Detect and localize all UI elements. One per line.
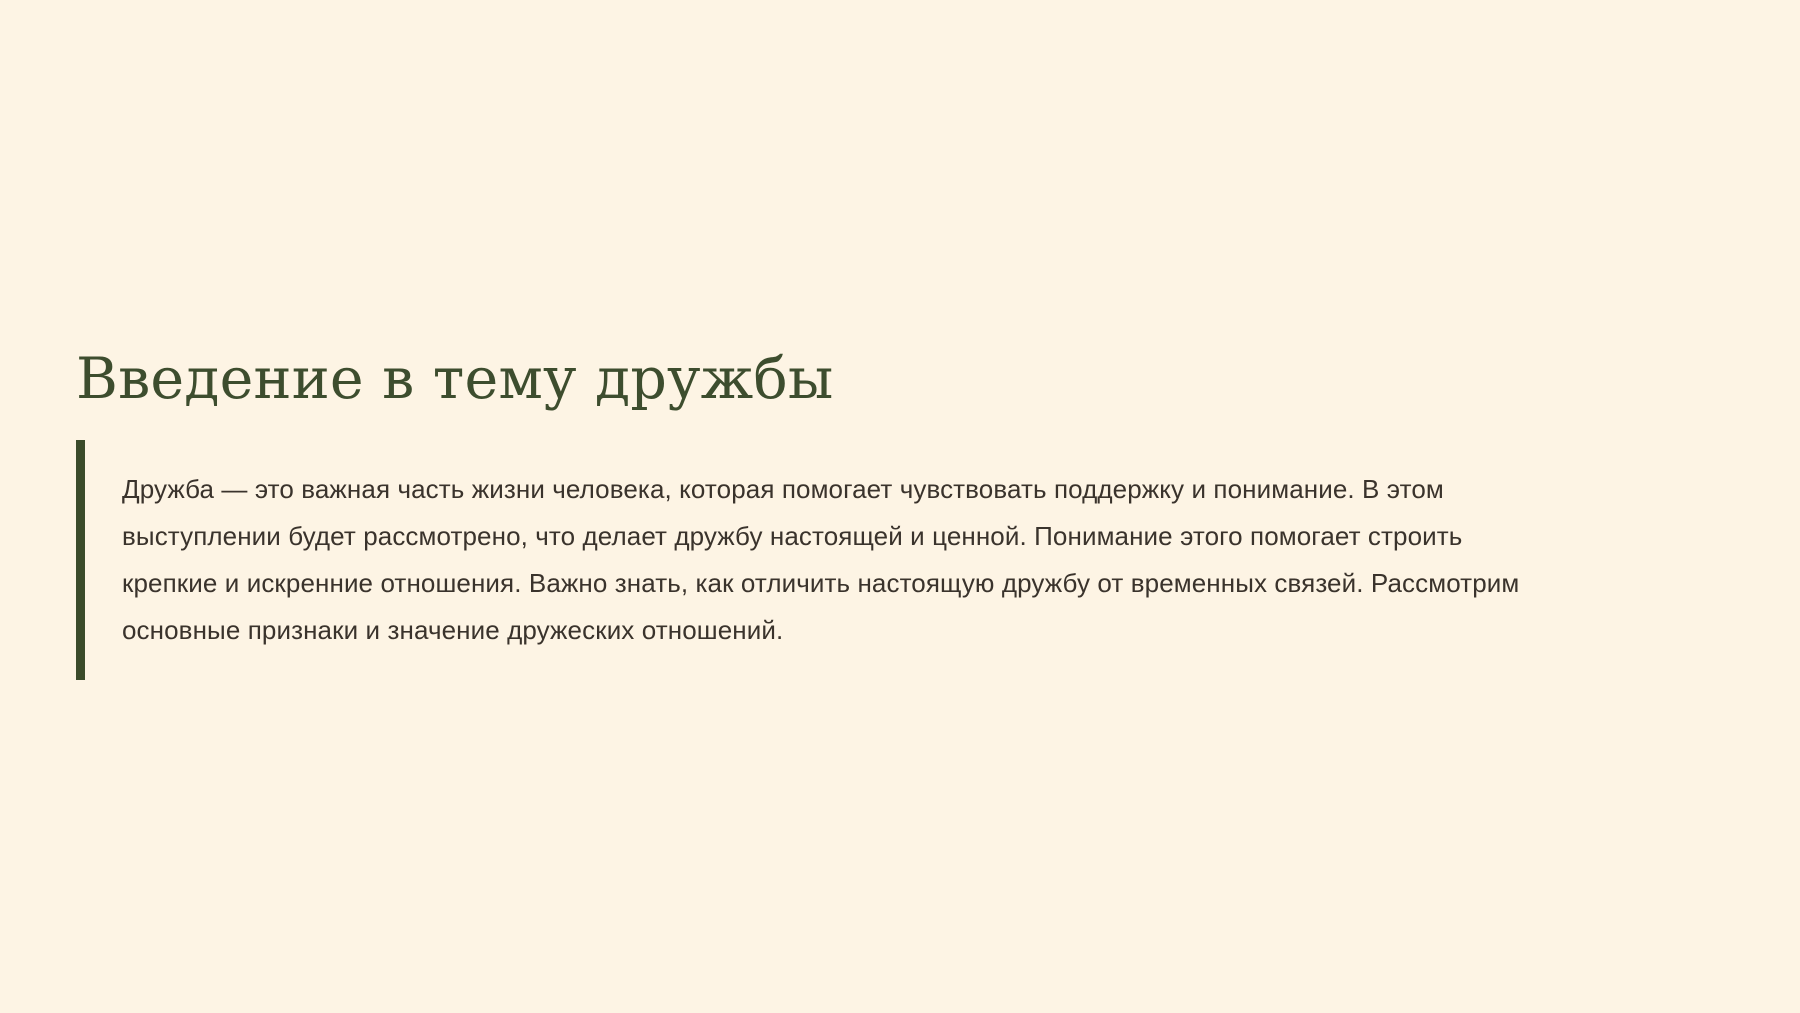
accent-bar <box>76 440 85 680</box>
quote-block: Дружба — это важная часть жизни человека… <box>76 440 1716 680</box>
page-title: Введение в тему дружбы <box>76 348 1716 412</box>
content-block: Введение в тему дружбы Дружба — это важн… <box>76 348 1716 680</box>
body-paragraph: Дружба — это важная часть жизни человека… <box>85 466 1552 654</box>
slide-canvas: Введение в тему дружбы Дружба — это важн… <box>0 0 1800 1013</box>
